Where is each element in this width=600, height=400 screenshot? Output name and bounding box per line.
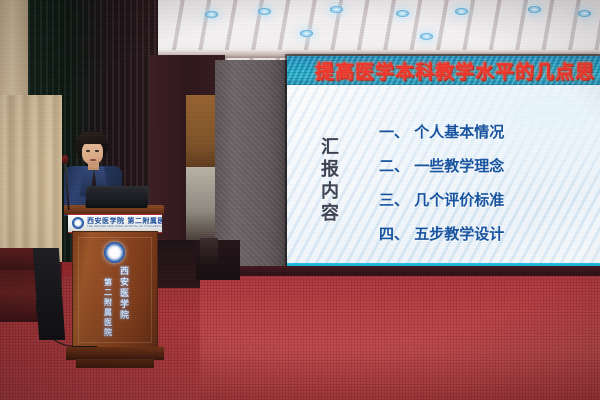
podium-vtext-2-char-4: 医 [102,318,114,328]
slide-agenda-item-4: 四、 五步教学设计 [379,217,584,251]
ceiling-downlight-icon-2 [330,6,343,13]
speaker-hair-fringe [78,132,106,144]
slide-title: 提高医学本科教学水平的几点思 [315,57,595,84]
ceiling-downlight-icon-4 [455,8,468,15]
doorway-gap [186,167,216,247]
ceiling-downlight-icon-3 [396,10,409,17]
slide-agenda-item-3: 三、 几个评价标准 [379,183,584,217]
slide-left-label-char-1: 报 [313,159,347,181]
speaker-mouth [90,159,96,161]
ceiling-downlight-icon-5 [528,6,541,13]
speaker-eye-left [86,150,90,152]
speaker-face [82,141,103,165]
podium-sign-english: THE SECOND AFFILIATED HOSPITAL OF XI'AN … [87,225,162,228]
slide-left-label-char-2: 内 [313,181,347,203]
ceiling-downlight-icon-6 [578,10,591,17]
ceiling-downlight-icon-7 [300,30,313,37]
slide-left-label-char-3: 容 [313,203,347,225]
podium-vtext-2-char-5: 院 [102,328,114,338]
microphone-icon [62,155,68,164]
podium-vtext-2-char-1: 二 [102,288,114,298]
podium-vtext-1-char-3: 学 [118,300,131,311]
laptop-screen [89,188,145,205]
podium-vertical-text-2: 第二附属医院 [102,278,114,338]
background-chair [200,238,218,264]
lecture-hall-photo: 提高医学本科教学水平的几点思 汇报内容 一、 个人基本情况二、 一些教学理念三、… [0,0,600,400]
slide-body: 汇报内容 一、 个人基本情况二、 一些教学理念三、 几个评价标准四、 五步教学设… [287,85,600,263]
podium-vtext-2-char-3: 属 [102,308,114,318]
slide-agenda-list: 一、 个人基本情况二、 一些教学理念三、 几个评价标准四、 五步教学设计 [379,115,584,251]
podium-vtext-2-char-0: 第 [102,278,114,288]
ceiling-downlight-icon-1 [258,8,271,15]
slide-agenda-item-2: 二、 一些教学理念 [379,149,584,183]
wooden-door-panel [186,95,216,167]
ceiling-downlight-icon-0 [205,11,218,18]
podium-vtext-1-char-4: 院 [118,311,131,322]
podium-vtext-2-char-2: 附 [102,298,114,308]
podium-foot [76,359,154,368]
projection-screen: 提高医学本科教学水平的几点思 汇报内容 一、 个人基本情况二、 一些教学理念三、… [287,56,600,270]
slide-title-band: 提高医学本科教学水平的几点思 [287,56,600,85]
slide-left-label: 汇报内容 [313,137,347,225]
podium-vtext-1-char-1: 安 [118,278,131,289]
ceiling-downlight-icon-8 [420,33,433,40]
podium-vtext-1-char-2: 医 [118,289,131,300]
podium-emblem-icon [104,242,125,263]
slide-left-label-char-0: 汇 [313,137,347,159]
slide-agenda-item-1: 一、 个人基本情况 [379,115,584,149]
hospital-emblem-icon [72,217,84,229]
podium-vtext-1-char-0: 西 [118,267,131,278]
podium-vertical-text-1: 西安医学院 [118,267,131,322]
speaker-eye-right [95,150,99,152]
